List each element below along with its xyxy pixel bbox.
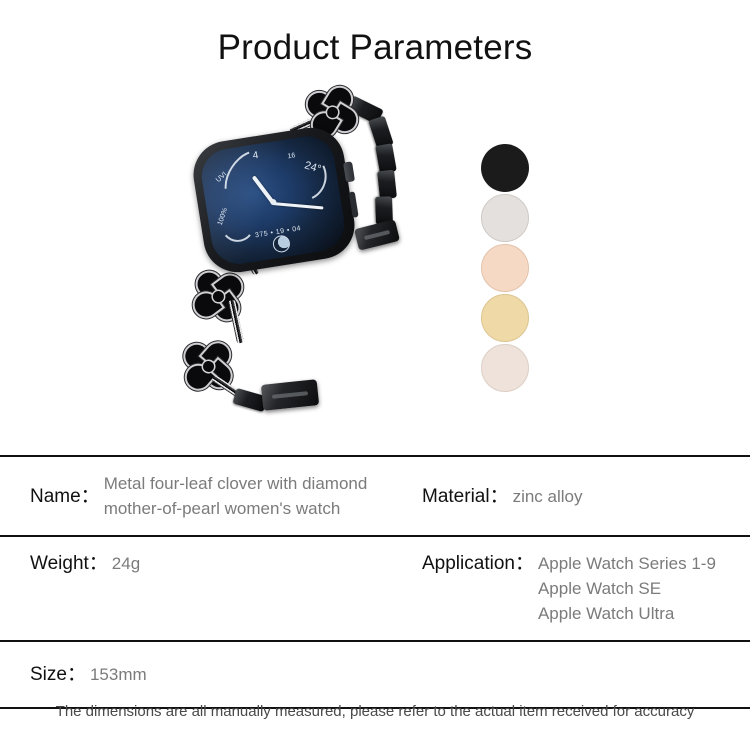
color-swatch-gold[interactable] bbox=[481, 294, 529, 342]
color-swatch-ivory[interactable] bbox=[481, 344, 529, 392]
band-chain-lower-2 bbox=[228, 299, 244, 343]
color-swatch-black[interactable] bbox=[481, 144, 529, 192]
side-button-icon bbox=[349, 191, 359, 218]
watch-case: 4 UVI 16 24° 100% 375 • 19 • 04 bbox=[189, 123, 360, 277]
digital-crown-icon bbox=[343, 161, 355, 182]
color-swatch-silver[interactable] bbox=[481, 194, 529, 242]
screen-glare bbox=[198, 132, 289, 268]
spec-value-material: zinc alloy bbox=[509, 484, 583, 509]
spec-cell-weight: Weight： 24g bbox=[0, 537, 410, 640]
spec-label-name: Name： bbox=[30, 484, 100, 509]
spec-label-weight: Weight： bbox=[30, 551, 108, 576]
spec-label-material: Material： bbox=[422, 484, 509, 509]
color-swatch-rose[interactable] bbox=[481, 244, 529, 292]
band-link-top-3 bbox=[375, 143, 397, 174]
color-swatch-list bbox=[481, 144, 533, 394]
spec-value-name-line-2: mother-of-pearl women's watch bbox=[104, 496, 368, 521]
spec-value-application: Apple Watch Series 1-9 Apple Watch SE Ap… bbox=[534, 551, 716, 626]
spec-cell-size-empty bbox=[410, 661, 750, 689]
spec-value-application-line-2: Apple Watch SE bbox=[538, 576, 716, 601]
spec-value-weight: 24g bbox=[108, 551, 140, 576]
table-row-size: Size： 153mm bbox=[0, 642, 750, 707]
band-link-top-4 bbox=[377, 170, 397, 200]
band-clasp-bottom bbox=[261, 379, 319, 411]
product-hero: 4 UVI 16 24° 100% 375 • 19 • 04 bbox=[0, 86, 750, 436]
spec-value-application-line-3: Apple Watch Ultra bbox=[538, 601, 716, 626]
spec-table: Name： Metal four-leaf clover with diamon… bbox=[0, 455, 750, 709]
spec-cell-name: Name： Metal four-leaf clover with diamon… bbox=[0, 457, 410, 535]
spec-value-application-line-1: Apple Watch Series 1-9 bbox=[538, 551, 716, 576]
measurement-disclaimer: The dimensions are all manually measured… bbox=[0, 703, 750, 720]
band-clasp-top bbox=[354, 219, 400, 251]
spec-label-size: Size： bbox=[30, 662, 86, 687]
spec-value-name-line-1: Metal four-leaf clover with diamond bbox=[104, 471, 368, 496]
spec-cell-application: Application： Apple Watch Series 1-9 Appl… bbox=[410, 537, 750, 640]
watch-screen: 4 UVI 16 24° 100% 375 • 19 • 04 bbox=[198, 132, 348, 268]
temp-small-label: 16 bbox=[287, 152, 296, 160]
table-row-weight-application: Weight： 24g Application： Apple Watch Ser… bbox=[0, 537, 750, 640]
spec-label-application: Application： bbox=[422, 551, 534, 576]
product-image: 4 UVI 16 24° 100% 375 • 19 • 04 bbox=[170, 86, 430, 436]
spec-value-name: Metal four-leaf clover with diamond moth… bbox=[100, 471, 368, 521]
table-row-name-material: Name： Metal four-leaf clover with diamon… bbox=[0, 457, 750, 535]
page-title: Product Parameters bbox=[0, 28, 750, 68]
spec-cell-material: Material： zinc alloy bbox=[410, 470, 750, 523]
spec-cell-size: Size： 153mm bbox=[0, 648, 410, 701]
spec-value-size: 153mm bbox=[86, 662, 147, 687]
